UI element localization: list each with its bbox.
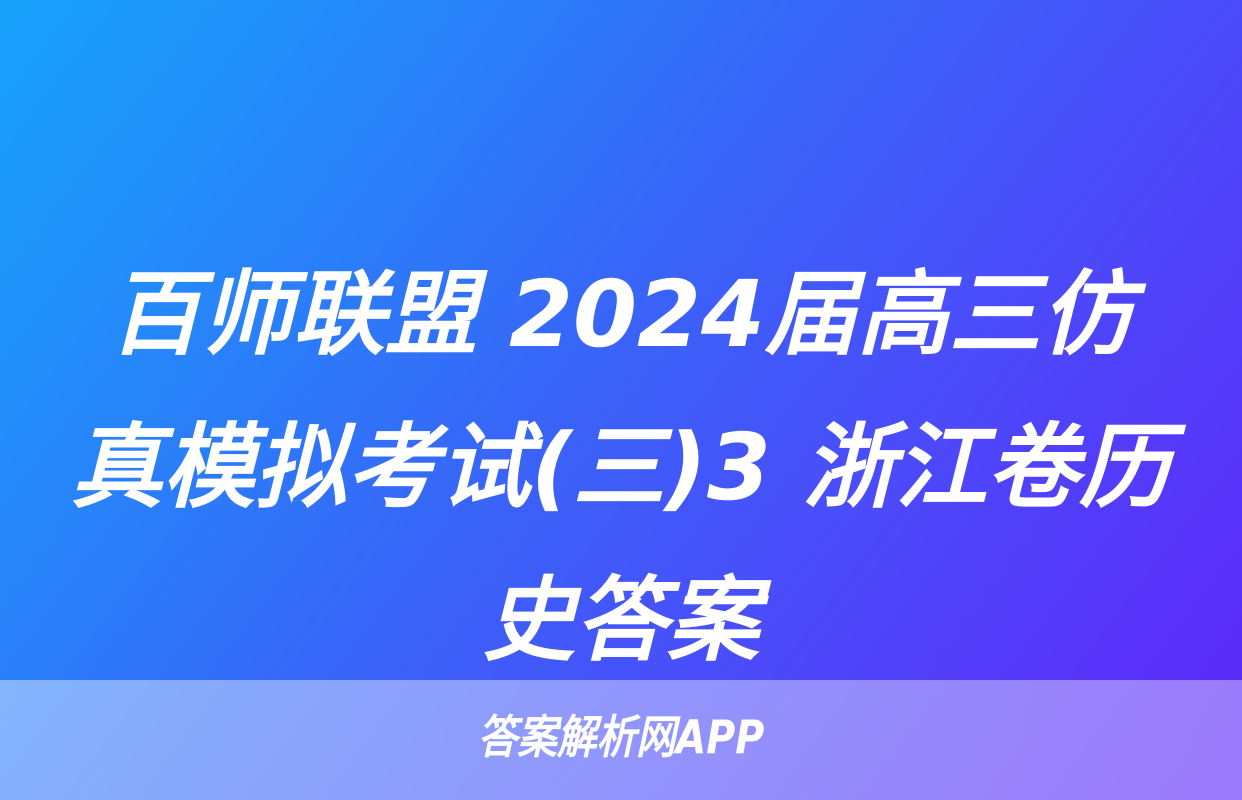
poster-canvas: 百师联盟 2024届高三仿真模拟考试(三)3 浙江卷历史答案 答案解析网APP <box>0 0 1242 800</box>
watermark-text: 答案解析网APP <box>478 701 764 767</box>
page-title: 百师联盟 2024届高三仿真模拟考试(三)3 浙江卷历史答案 <box>64 238 1178 697</box>
page-title-text: 百师联盟 2024届高三仿真模拟考试(三)3 浙江卷历史答案 <box>71 261 1171 674</box>
watermark-brand: 答案解析网APP <box>87 700 1155 768</box>
